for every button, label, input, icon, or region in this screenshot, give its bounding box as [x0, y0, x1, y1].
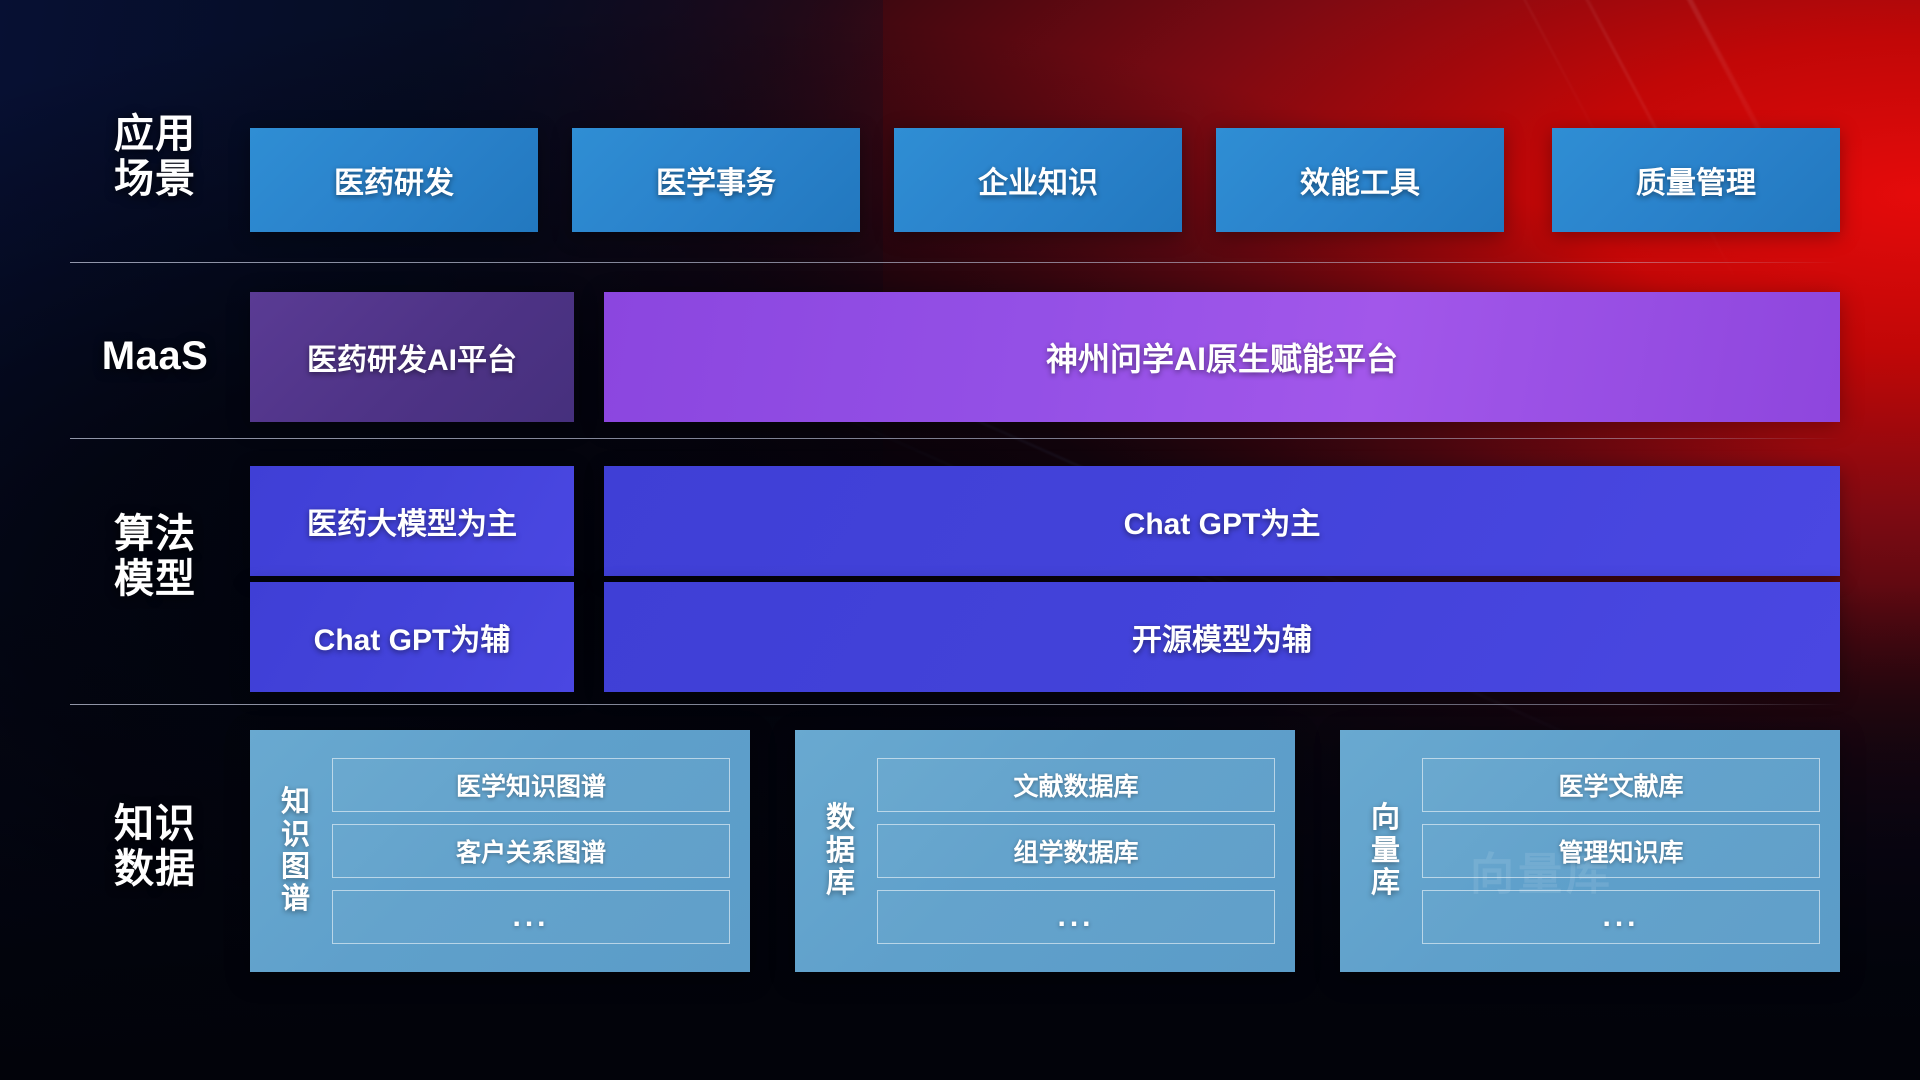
row-label-line: 模型 [70, 557, 240, 602]
divider-maas-algorithm [70, 438, 1840, 439]
row-label-line: 场景 [70, 157, 240, 202]
app-box-0[interactable]: 医药研发 [250, 128, 538, 232]
row-label-algorithm: 算法 模型 [70, 512, 240, 602]
maas-box-right[interactable]: 神州问学AI原生赋能平台 [604, 292, 1840, 422]
knowledge-panel-vector[interactable]: 向量库 医学文献库 管理知识库 ... [1340, 730, 1840, 972]
row-label-line: MaaS [70, 334, 240, 379]
row-label-maas: MaaS [70, 334, 240, 379]
knowledge-item[interactable]: 组学数据库 [877, 824, 1275, 878]
app-box-3[interactable]: 效能工具 [1216, 128, 1504, 232]
row-label-line: 算法 [70, 512, 240, 557]
app-box-1[interactable]: 医学事务 [572, 128, 860, 232]
knowledge-item-more[interactable]: ... [1422, 890, 1820, 944]
knowledge-panel-title: 知识图谱 [260, 786, 332, 916]
knowledge-item-more[interactable]: ... [332, 890, 730, 944]
row-label-line: 数据 [70, 847, 240, 892]
algorithm-box-left-primary[interactable]: 医药大模型为主 [250, 466, 574, 576]
row-label-line: 应用 [70, 112, 240, 157]
row-label-application: 应用 场景 [70, 112, 240, 202]
slide-canvas: 应用 场景 医药研发 医学事务 企业知识 效能工具 质量管理 MaaS 医药研发… [0, 0, 1920, 1080]
row-label-knowledge: 知识 数据 [70, 802, 240, 892]
knowledge-item[interactable]: 客户关系图谱 [332, 824, 730, 878]
row-label-line: 知识 [70, 802, 240, 847]
divider-application-maas [70, 262, 1840, 263]
app-box-4[interactable]: 质量管理 [1552, 128, 1840, 232]
knowledge-item[interactable]: 管理知识库 [1422, 824, 1820, 878]
knowledge-panel-items: 医学知识图谱 客户关系图谱 ... [332, 758, 736, 944]
knowledge-panel-items: 文献数据库 组学数据库 ... [877, 758, 1281, 944]
knowledge-panel-items: 医学文献库 管理知识库 ... [1422, 758, 1826, 944]
knowledge-item[interactable]: 医学文献库 [1422, 758, 1820, 812]
algorithm-box-right-secondary[interactable]: 开源模型为辅 [604, 582, 1840, 692]
divider-algorithm-knowledge [70, 704, 1840, 705]
knowledge-panel-title: 数据库 [805, 802, 877, 899]
app-box-2[interactable]: 企业知识 [894, 128, 1182, 232]
knowledge-panel-title: 向量库 [1350, 802, 1422, 899]
knowledge-item[interactable]: 文献数据库 [877, 758, 1275, 812]
knowledge-panel-graph[interactable]: 知识图谱 医学知识图谱 客户关系图谱 ... [250, 730, 750, 972]
knowledge-item[interactable]: 医学知识图谱 [332, 758, 730, 812]
algorithm-box-left-secondary[interactable]: Chat GPT为辅 [250, 582, 574, 692]
algorithm-box-right-primary[interactable]: Chat GPT为主 [604, 466, 1840, 576]
maas-box-left[interactable]: 医药研发AI平台 [250, 292, 574, 422]
knowledge-panel-database[interactable]: 数据库 文献数据库 组学数据库 ... [795, 730, 1295, 972]
knowledge-item-more[interactable]: ... [877, 890, 1275, 944]
